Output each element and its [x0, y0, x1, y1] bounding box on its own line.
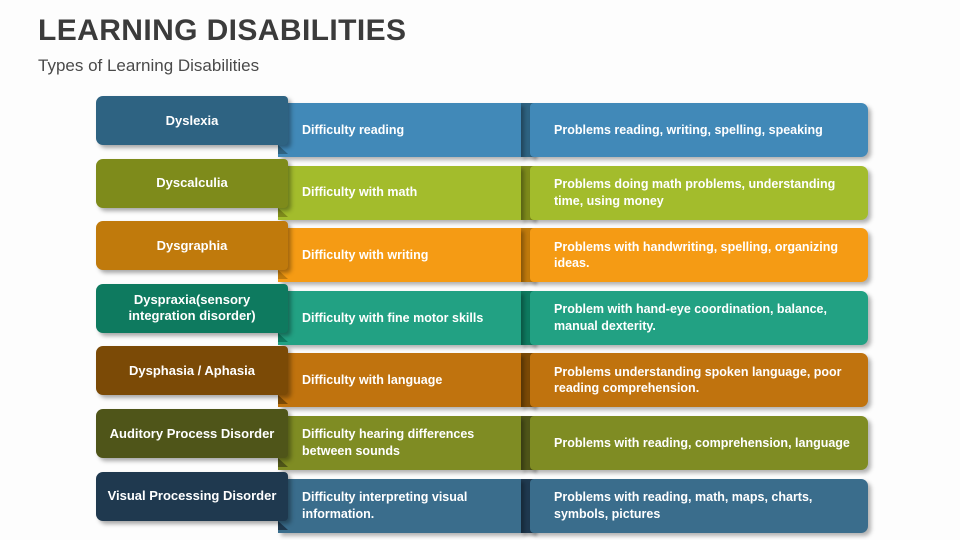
problems-label: Problems doing math problems, understand…	[530, 176, 868, 209]
difficulty-label: Difficulty interpreting visual informati…	[278, 489, 521, 522]
row-tail-triangle	[278, 458, 288, 467]
row-tail-triangle	[278, 145, 288, 154]
problems-panel[interactable]: Problem with hand-eye coordination, bala…	[530, 291, 868, 345]
row-tail-triangle	[278, 208, 288, 217]
disability-name-panel[interactable]: Auditory Process Disorder	[96, 409, 288, 458]
problems-panel[interactable]: Problems with handwriting, spelling, org…	[530, 228, 868, 282]
difficulty-panel[interactable]: Difficulty hearing differences between s…	[278, 416, 521, 470]
problems-label: Problems with reading, comprehension, la…	[530, 435, 862, 452]
disability-name-label: Dysgraphia	[149, 238, 236, 254]
disability-name-panel[interactable]: Dysgraphia	[96, 221, 288, 270]
disability-name-panel[interactable]: Dyslexia	[96, 96, 288, 145]
difficulty-label: Difficulty reading	[278, 122, 414, 139]
disability-row: Difficulty readingProblems reading, writ…	[0, 96, 960, 159]
disability-row: Difficulty with fine motor skillsProblem…	[0, 284, 960, 347]
disability-name-label: Dysphasia / Aphasia	[121, 363, 263, 379]
problems-label: Problems with reading, math, maps, chart…	[530, 489, 868, 522]
difficulty-panel[interactable]: Difficulty reading	[278, 103, 521, 157]
row-tail-triangle	[278, 333, 288, 342]
difficulty-label: Difficulty with fine motor skills	[278, 310, 493, 327]
disability-row: Difficulty interpreting visual informati…	[0, 472, 960, 535]
difficulty-panel[interactable]: Difficulty with math	[278, 166, 521, 220]
difficulty-panel[interactable]: Difficulty interpreting visual informati…	[278, 479, 521, 533]
disability-row: Difficulty with mathProblems doing math …	[0, 159, 960, 222]
difficulty-panel[interactable]: Difficulty with writing	[278, 228, 521, 282]
disability-name-label: Auditory Process Disorder	[102, 426, 283, 442]
page-title: LEARNING DISABILITIES	[38, 14, 918, 47]
problems-panel[interactable]: Problems understanding spoken language, …	[530, 353, 868, 407]
disability-name-label: Dyslexia	[158, 113, 227, 129]
disability-row: Difficulty hearing differences between s…	[0, 409, 960, 472]
problems-panel[interactable]: Problems with reading, math, maps, chart…	[530, 479, 868, 533]
difficulty-label: Difficulty hearing differences between s…	[278, 426, 521, 459]
problems-label: Problem with hand-eye coordination, bala…	[530, 301, 868, 334]
row-tail-triangle	[278, 395, 288, 404]
page-subtitle: Types of Learning Disabilities	[38, 57, 918, 76]
disability-name-label: Visual Processing Disorder	[100, 488, 285, 504]
disability-name-label: Dyscalculia	[148, 175, 236, 191]
slide-canvas: LEARNING DISABILITIES Types of Learning …	[0, 0, 960, 540]
disability-row: Difficulty with writingProblems with han…	[0, 221, 960, 284]
disability-name-panel[interactable]: Dyspraxia(sensory integration disorder)	[96, 284, 288, 333]
difficulty-label: Difficulty with math	[278, 184, 427, 201]
disability-rows-list: Difficulty readingProblems reading, writ…	[0, 96, 960, 534]
difficulty-panel[interactable]: Difficulty with fine motor skills	[278, 291, 521, 345]
problems-label: Problems with handwriting, spelling, org…	[530, 239, 868, 272]
problems-panel[interactable]: Problems reading, writing, spelling, spe…	[530, 103, 868, 157]
disability-row: Difficulty with languageProblems underst…	[0, 346, 960, 409]
disability-name-panel[interactable]: Dyscalculia	[96, 159, 288, 208]
problems-panel[interactable]: Problems doing math problems, understand…	[530, 166, 868, 220]
disability-name-label: Dyspraxia(sensory integration disorder)	[96, 292, 288, 324]
problems-label: Problems reading, writing, spelling, spe…	[530, 122, 835, 139]
problems-label: Problems understanding spoken language, …	[530, 364, 868, 397]
difficulty-label: Difficulty with language	[278, 372, 452, 389]
disability-name-panel[interactable]: Dysphasia / Aphasia	[96, 346, 288, 395]
disability-name-panel[interactable]: Visual Processing Disorder	[96, 472, 288, 521]
row-tail-triangle	[278, 270, 288, 279]
slide-header: LEARNING DISABILITIES Types of Learning …	[38, 14, 918, 76]
difficulty-label: Difficulty with writing	[278, 247, 438, 264]
problems-panel[interactable]: Problems with reading, comprehension, la…	[530, 416, 868, 470]
row-tail-triangle	[278, 521, 288, 530]
difficulty-panel[interactable]: Difficulty with language	[278, 353, 521, 407]
